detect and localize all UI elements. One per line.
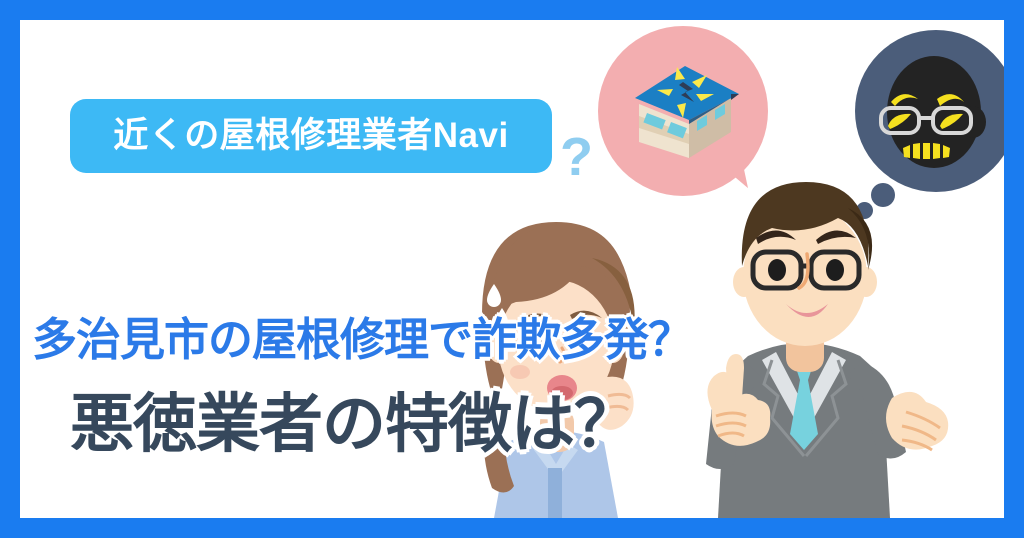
- site-badge[interactable]: 近くの屋根修理業者Navi: [70, 99, 552, 173]
- content-canvas: 近くの屋根修理業者Navi ? 多治見市の屋根修理で詐欺多発？ 悪徳業者の特徴は…: [20, 20, 1004, 518]
- pointing-man-illustration: [660, 180, 950, 518]
- shady-contractor-face-icon: [877, 50, 997, 174]
- site-badge-label: 近くの屋根修理業者Navi: [113, 118, 508, 155]
- open-palm-hand: [886, 392, 948, 450]
- damaged-house-icon: [631, 58, 743, 168]
- headline-primary: 多治見市の屋根修理で詐欺多発？: [32, 317, 692, 362]
- decorative-question-mark-icon: ?: [560, 130, 593, 184]
- headline-secondary: 悪徳業者の特徴は？: [70, 392, 637, 456]
- image-frame: 近くの屋根修理業者Navi ? 多治見市の屋根修理で詐欺多発？ 悪徳業者の特徴は…: [0, 0, 1024, 538]
